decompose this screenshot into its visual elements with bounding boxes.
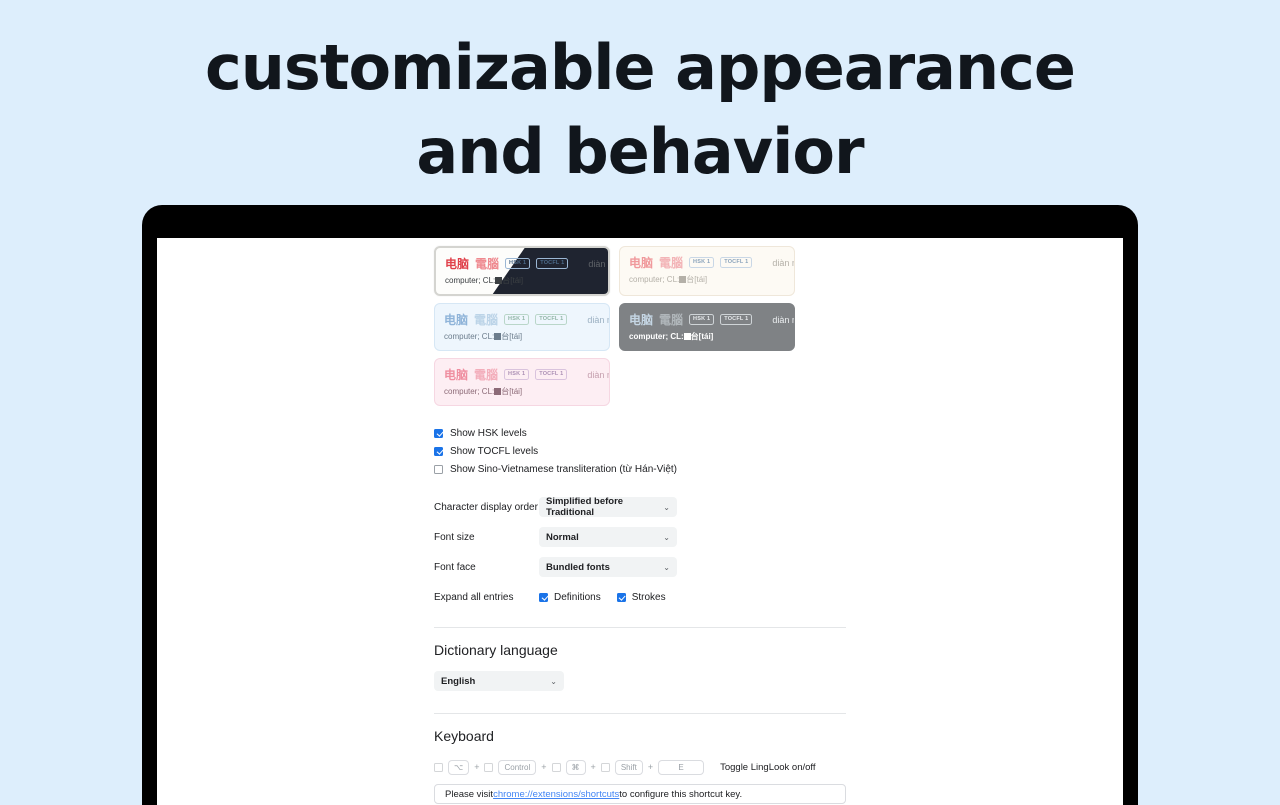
headline-line-2: and behavior xyxy=(0,110,1280,194)
display-checkbox-group: Show HSK levels Show TOCFL levels Show S… xyxy=(434,424,854,478)
label-character-display-order: Character display order xyxy=(434,502,539,513)
theme-card-pink[interactable]: 电脑 電腦 HSK 1 TOCFL 1 diàn nǎo computer; C… xyxy=(434,358,610,406)
select-value: Bundled fonts xyxy=(546,562,610,573)
key-shift[interactable]: Shift xyxy=(615,760,643,775)
pinyin-text: diàn nǎo xyxy=(772,258,795,268)
definition-suffix: 台[tái] xyxy=(686,275,707,284)
label-expand-all-entries: Expand all entries xyxy=(434,592,539,603)
expand-all-options: Definitions Strokes xyxy=(539,592,666,603)
page-headline: customizable appearance and behavior xyxy=(0,0,1280,194)
theme-preview-grid: 电脑 電腦 HSK 1 TOCFL 1 diàn nǎo computer; C… xyxy=(434,238,854,406)
tocfl-badge: TOCFL 1 xyxy=(536,258,568,270)
pinyin-text: diàn nǎo xyxy=(772,315,795,325)
hsk-badge: HSK 1 xyxy=(689,257,714,269)
checkbox-definitions[interactable] xyxy=(539,593,548,602)
simplified-characters: 电脑 xyxy=(445,255,469,272)
hsk-badge: HSK 1 xyxy=(505,258,530,270)
checkbox-modifier-option[interactable] xyxy=(434,763,443,772)
section-title-dictionary-language: Dictionary language xyxy=(434,642,854,658)
row-expand-all-entries: Expand all entries Definitions Strokes xyxy=(434,582,854,612)
chevron-down-icon: ⌄ xyxy=(663,503,670,512)
row-font-size: Font size Normal ⌄ xyxy=(434,522,854,552)
notice-suffix: to configure this shortcut key. xyxy=(619,789,742,800)
theme-row-1: 电脑 電腦 HSK 1 TOCFL 1 diàn nǎo computer; C… xyxy=(434,246,854,296)
checkbox-tocfl-levels[interactable] xyxy=(434,447,443,456)
select-font-face[interactable]: Bundled fonts ⌄ xyxy=(539,557,677,577)
divider-keyboard xyxy=(434,713,846,714)
chevron-down-icon: ⌄ xyxy=(550,677,557,686)
select-value: English xyxy=(441,676,475,687)
options-page: 电脑 電腦 HSK 1 TOCFL 1 diàn nǎo computer; C… xyxy=(157,238,1123,805)
notice-prefix: Please visit xyxy=(445,789,493,800)
divider-dictionary xyxy=(434,627,846,628)
entry-headline: 电脑 電腦 HSK 1 TOCFL 1 diàn nǎo xyxy=(629,254,785,271)
select-font-size[interactable]: Normal ⌄ xyxy=(539,527,677,547)
plus-separator: + xyxy=(648,762,653,772)
key-final[interactable]: E xyxy=(658,760,704,775)
display-select-group: Character display order Simplified befor… xyxy=(434,492,854,612)
plus-separator: + xyxy=(541,762,546,772)
pinyin-text: diàn nǎo xyxy=(587,370,610,380)
checkbox-label-hsk: Show HSK levels xyxy=(450,428,527,439)
entry-definition: computer; CL:台[tái] xyxy=(629,331,785,342)
select-value: Simplified before Traditional xyxy=(546,496,663,518)
tocfl-badge: TOCFL 1 xyxy=(720,314,752,326)
checkbox-modifier-command[interactable] xyxy=(552,763,561,772)
checkbox-row-definitions[interactable]: Definitions xyxy=(539,592,601,603)
keyboard-shortcut-row: ⌥ + Control + ⌘ + Shift + E Toggle LingL… xyxy=(434,757,854,777)
simplified-characters: 电脑 xyxy=(444,311,468,328)
checkbox-row-sino-vietnamese[interactable]: Show Sino-Vietnamese transliteration (từ… xyxy=(434,460,854,478)
tocfl-badge: TOCFL 1 xyxy=(535,369,567,381)
chevron-down-icon: ⌄ xyxy=(663,563,670,572)
simplified-characters: 电脑 xyxy=(629,311,653,328)
hsk-badge: HSK 1 xyxy=(504,369,529,381)
chevron-down-icon: ⌄ xyxy=(663,533,670,542)
laptop-frame: 电脑 電腦 HSK 1 TOCFL 1 diàn nǎo computer; C… xyxy=(142,205,1138,805)
checkbox-label-strokes: Strokes xyxy=(632,592,666,603)
definition-suffix: 台[tái] xyxy=(502,276,523,285)
definition-prefix: computer; CL: xyxy=(629,332,684,341)
row-font-face: Font face Bundled fonts ⌄ xyxy=(434,552,854,582)
checkbox-modifier-shift[interactable] xyxy=(601,763,610,772)
key-option[interactable]: ⌥ xyxy=(448,760,469,775)
checkbox-sino-vietnamese[interactable] xyxy=(434,465,443,474)
entry-headline: 电脑 電腦 HSK 1 TOCFL 1 diàn nǎo xyxy=(444,366,600,383)
checkbox-row-hsk[interactable]: Show HSK levels xyxy=(434,424,854,442)
entry-definition: computer; CL:台[tái] xyxy=(629,274,785,285)
traditional-characters: 電腦 xyxy=(474,311,498,328)
select-dictionary-language[interactable]: English ⌄ xyxy=(434,671,564,691)
traditional-characters: 電腦 xyxy=(474,366,498,383)
checkbox-label-sino-vietnamese: Show Sino-Vietnamese transliteration (từ… xyxy=(450,464,677,475)
chrome-shortcuts-link[interactable]: chrome://extensions/shortcuts xyxy=(493,789,619,800)
pinyin-text: diàn nǎo xyxy=(587,315,610,325)
options-content: 电脑 電腦 HSK 1 TOCFL 1 diàn nǎo computer; C… xyxy=(434,238,854,805)
keyboard-shortcut-description: Toggle LingLook on/off xyxy=(720,762,815,773)
checkbox-strokes[interactable] xyxy=(617,593,626,602)
traditional-characters: 電腦 xyxy=(475,255,499,272)
checkbox-label-definitions: Definitions xyxy=(554,592,601,603)
hsk-badge: HSK 1 xyxy=(689,314,714,326)
tocfl-badge: TOCFL 1 xyxy=(535,314,567,326)
hsk-badge: HSK 1 xyxy=(504,314,529,326)
definition-suffix: 台[tái] xyxy=(501,387,522,396)
definition-prefix: computer; CL: xyxy=(444,332,494,341)
select-value: Normal xyxy=(546,532,579,543)
checkbox-modifier-control[interactable] xyxy=(484,763,493,772)
theme-card-blue[interactable]: 电脑 電腦 HSK 1 TOCFL 1 diàn nǎo computer; C… xyxy=(434,303,610,351)
pinyin-text: diàn nǎo xyxy=(588,259,610,269)
entry-definition: computer; CL:台[tái] xyxy=(444,386,600,397)
traditional-characters: 電腦 xyxy=(659,254,683,271)
definition-prefix: computer; CL: xyxy=(445,276,495,285)
section-title-keyboard: Keyboard xyxy=(434,728,854,744)
theme-card-gray[interactable]: 电脑 電腦 HSK 1 TOCFL 1 diàn nǎo computer; C… xyxy=(619,303,795,351)
select-character-display-order[interactable]: Simplified before Traditional ⌄ xyxy=(539,497,677,517)
plus-separator: + xyxy=(591,762,596,772)
simplified-characters: 电脑 xyxy=(444,366,468,383)
entry-headline: 电脑 電腦 HSK 1 TOCFL 1 diàn nǎo xyxy=(445,255,599,272)
definition-suffix: 台[tái] xyxy=(501,332,522,341)
checkbox-row-strokes[interactable]: Strokes xyxy=(617,592,666,603)
theme-card-sepia[interactable]: 电脑 電腦 HSK 1 TOCFL 1 diàn nǎo computer; C… xyxy=(619,246,795,296)
entry-headline: 电脑 電腦 HSK 1 TOCFL 1 diàn nǎo xyxy=(629,311,785,328)
key-command[interactable]: ⌘ xyxy=(566,760,586,775)
simplified-characters: 电脑 xyxy=(629,254,653,271)
laptop-screen: 电脑 電腦 HSK 1 TOCFL 1 diàn nǎo computer; C… xyxy=(157,238,1123,805)
checkbox-hsk-levels[interactable] xyxy=(434,429,443,438)
shortcut-notice: Please visit chrome://extensions/shortcu… xyxy=(434,784,846,804)
checkbox-label-tocfl: Show TOCFL levels xyxy=(450,446,538,457)
headline-line-1: customizable appearance xyxy=(205,31,1075,104)
label-font-face: Font face xyxy=(434,562,539,573)
entry-definition: computer; CL:台[tái] xyxy=(445,275,599,286)
theme-card-default[interactable]: 电脑 電腦 HSK 1 TOCFL 1 diàn nǎo computer; C… xyxy=(434,246,610,296)
definition-prefix: computer; CL: xyxy=(629,275,679,284)
traditional-characters: 電腦 xyxy=(659,311,683,328)
label-font-size: Font size xyxy=(434,532,539,543)
theme-row-2: 电脑 電腦 HSK 1 TOCFL 1 diàn nǎo computer; C… xyxy=(434,303,854,351)
classifier-glyph xyxy=(684,333,691,340)
definition-suffix: 台[tái] xyxy=(691,332,714,341)
key-control[interactable]: Control xyxy=(498,760,536,775)
entry-definition: computer; CL:台[tái] xyxy=(444,331,600,342)
plus-separator: + xyxy=(474,762,479,772)
checkbox-row-tocfl[interactable]: Show TOCFL levels xyxy=(434,442,854,460)
definition-prefix: computer; CL: xyxy=(444,387,494,396)
tocfl-badge: TOCFL 1 xyxy=(720,257,752,269)
row-character-display-order: Character display order Simplified befor… xyxy=(434,492,854,522)
theme-row-3: 电脑 電腦 HSK 1 TOCFL 1 diàn nǎo computer; C… xyxy=(434,358,854,406)
entry-headline: 电脑 電腦 HSK 1 TOCFL 1 diàn nǎo xyxy=(444,311,600,328)
